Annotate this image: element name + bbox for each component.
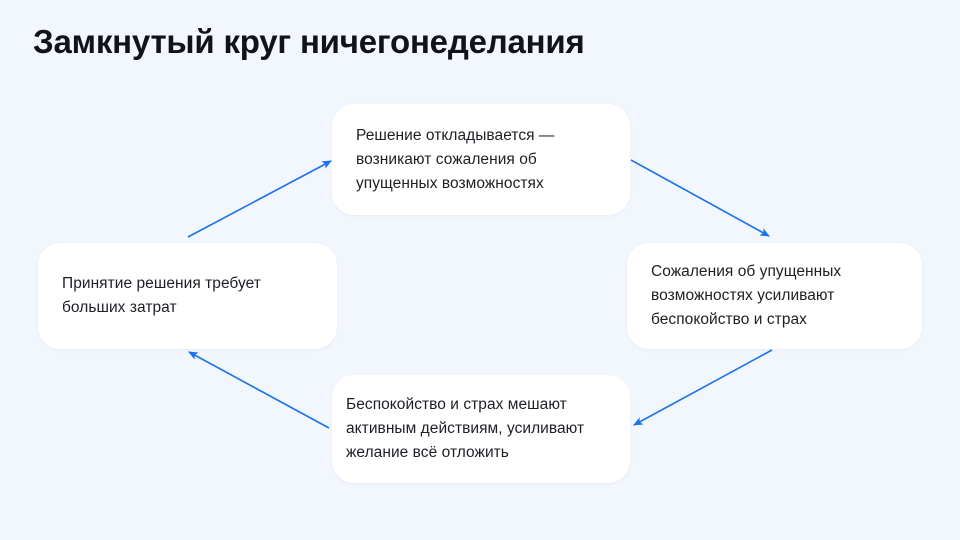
arrow-bottom-to-left: [189, 352, 329, 428]
cycle-node-right-text: Сожаления об упущенных возможностях усил…: [651, 260, 898, 332]
arrow-left-to-top: [188, 161, 331, 237]
page-title: Замкнутый круг ничегонеделания: [33, 22, 893, 62]
cycle-node-right[interactable]: Сожаления об упущенных возможностях усил…: [627, 243, 922, 349]
cycle-node-left[interactable]: Принятие решения требует больших затрат: [38, 243, 337, 349]
slide-canvas: Замкнутый круг ничегонеделания Решение о…: [0, 0, 960, 540]
arrow-top-to-right: [631, 160, 769, 236]
cycle-node-bottom[interactable]: Беспокойство и страх мешают активным дей…: [332, 375, 630, 483]
arrow-right-to-bottom: [634, 350, 772, 425]
cycle-node-bottom-text: Беспокойство и страх мешают активным дей…: [346, 393, 616, 465]
cycle-node-left-text: Принятие решения требует больших затрат: [62, 272, 313, 320]
cycle-node-top[interactable]: Решение откладывается — возникают сожале…: [332, 104, 630, 215]
cycle-node-top-text: Решение откладывается — возникают сожале…: [356, 124, 606, 196]
